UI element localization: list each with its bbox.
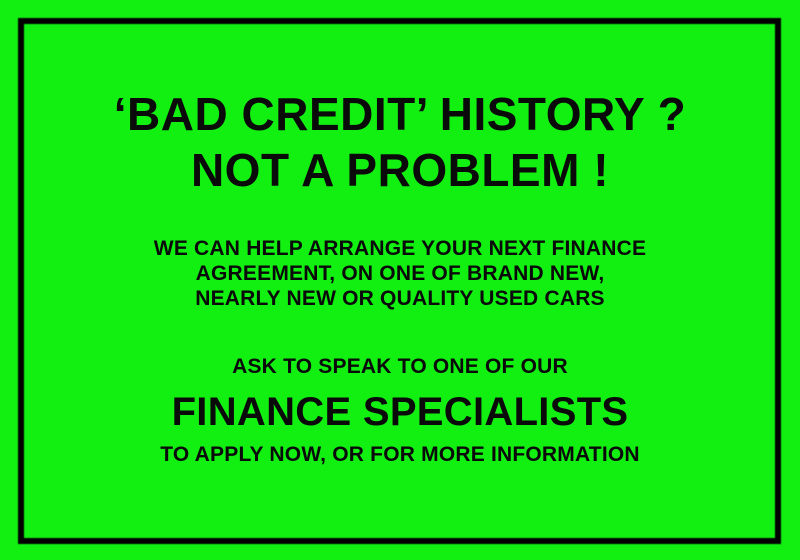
body-copy-block: WE CAN HELP ARRANGE YOUR NEXT FINANCE AG…: [0, 236, 800, 311]
cta-footer: TO APPLY NOW, OR FOR MORE INFORMATION: [0, 442, 800, 468]
poster-content: ‘BAD CREDIT’ HISTORY ? NOT A PROBLEM ! W…: [0, 0, 800, 560]
call-to-action-block: ASK TO SPEAK TO ONE OF OUR FINANCE SPECI…: [0, 354, 800, 468]
cta-emphasis: FINANCE SPECIALISTS: [0, 386, 800, 438]
cta-lead-in: ASK TO SPEAK TO ONE OF OUR: [0, 354, 800, 380]
headline-line-2: NOT A PROBLEM !: [0, 142, 800, 198]
headline-block: ‘BAD CREDIT’ HISTORY ? NOT A PROBLEM !: [0, 86, 800, 198]
body-line-3: NEARLY NEW OR QUALITY USED CARS: [0, 286, 800, 311]
headline-line-1: ‘BAD CREDIT’ HISTORY ?: [0, 86, 800, 142]
poster: ‘BAD CREDIT’ HISTORY ? NOT A PROBLEM ! W…: [0, 0, 800, 560]
body-line-1: WE CAN HELP ARRANGE YOUR NEXT FINANCE: [0, 236, 800, 261]
body-line-2: AGREEMENT, ON ONE OF BRAND NEW,: [0, 261, 800, 286]
